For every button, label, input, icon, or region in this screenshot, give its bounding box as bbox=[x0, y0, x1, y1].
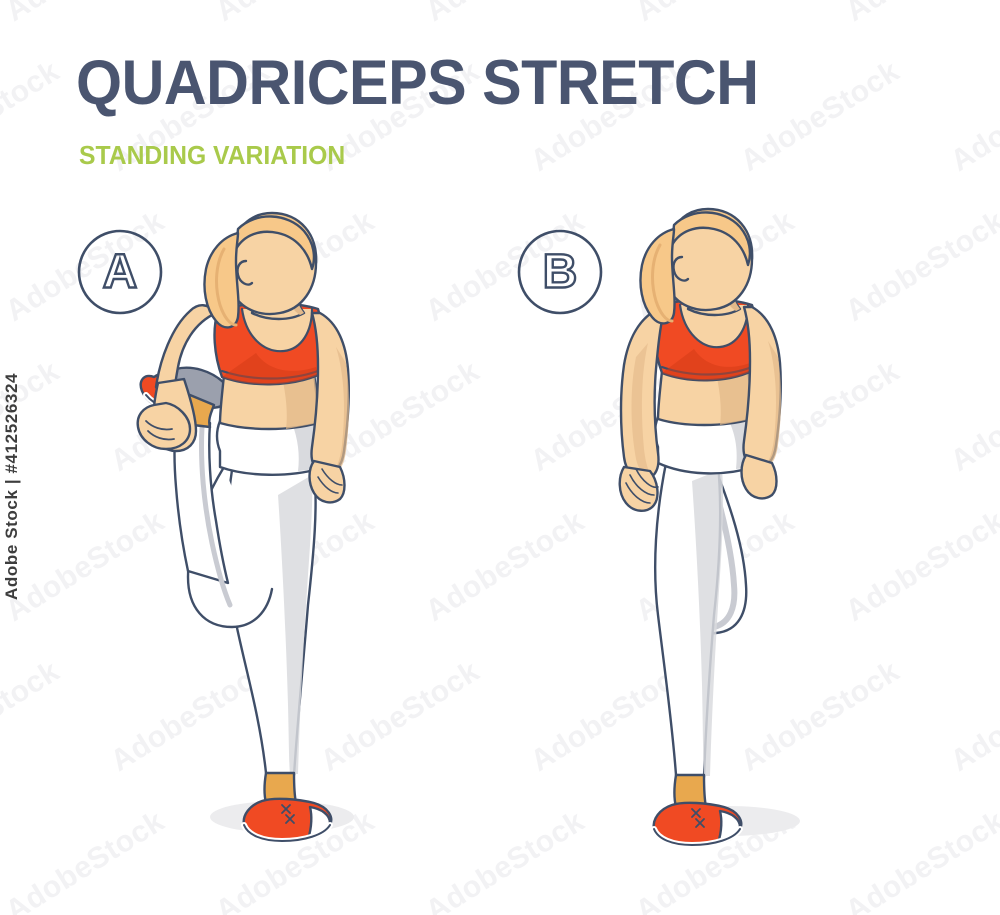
watermark-text: AdobeStock bbox=[420, 805, 591, 915]
badge-letter-a: A bbox=[103, 246, 138, 299]
ponytail-b bbox=[640, 229, 674, 323]
badge-letter-b: B bbox=[543, 246, 578, 299]
hand-right-a bbox=[310, 461, 345, 502]
watermark-text: AdobeStock bbox=[0, 0, 171, 29]
ponytail-a bbox=[204, 233, 238, 327]
watermark-text: AdobeStock bbox=[210, 0, 381, 29]
stock-credit-label: Adobe Stock | #412526324 bbox=[2, 373, 22, 600]
watermark-text: AdobeStock bbox=[945, 55, 1000, 179]
illustration-canvas: AdobeStockAdobeStockAdobeStockAdobeStock… bbox=[0, 0, 1000, 915]
exercise-figure-b bbox=[610, 255, 840, 845]
page-title: QUADRICEPS STRETCH bbox=[76, 52, 758, 115]
step-badge-a: A bbox=[76, 228, 164, 316]
watermark-text: AdobeStock bbox=[945, 355, 1000, 479]
watermark-text: AdobeStock bbox=[840, 205, 1000, 329]
watermark-text: AdobeStock bbox=[840, 805, 1000, 915]
watermark-text: AdobeStock bbox=[0, 55, 66, 179]
page-subtitle: STANDING VARIATION bbox=[79, 142, 345, 168]
watermark-text: AdobeStock bbox=[420, 0, 591, 29]
watermark-text: AdobeStock bbox=[840, 0, 1000, 29]
watermark-text: AdobeStock bbox=[420, 505, 591, 629]
exercise-figure-a bbox=[132, 255, 392, 845]
watermark-text: AdobeStock bbox=[840, 505, 1000, 629]
step-badge-b: B bbox=[516, 228, 604, 316]
watermark-text: AdobeStock bbox=[945, 655, 1000, 779]
watermark-text: AdobeStock bbox=[630, 0, 801, 29]
watermark-text: AdobeStock bbox=[735, 55, 906, 179]
watermark-text: AdobeStock bbox=[0, 655, 66, 779]
